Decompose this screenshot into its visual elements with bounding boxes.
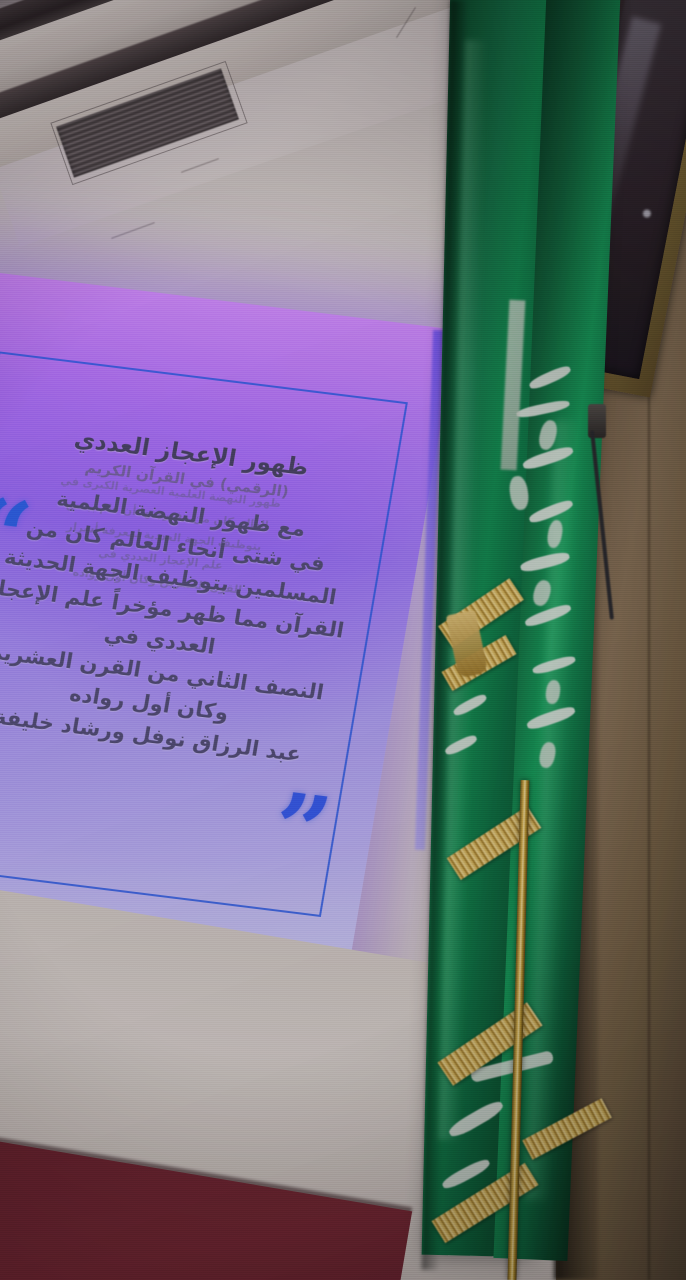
slide-body: مع ظهور النهضة العلمية في شتى أنحاء العا… (0, 476, 371, 774)
quote-close-icon: ” (269, 799, 331, 862)
photo-scene: “ ” ظهور النهضة العلمية العصرية الكبرى ف… (0, 0, 686, 1280)
slide-text-block: ظهور الإعجاز العددي (الرقمي) في القرآن ا… (0, 417, 381, 775)
